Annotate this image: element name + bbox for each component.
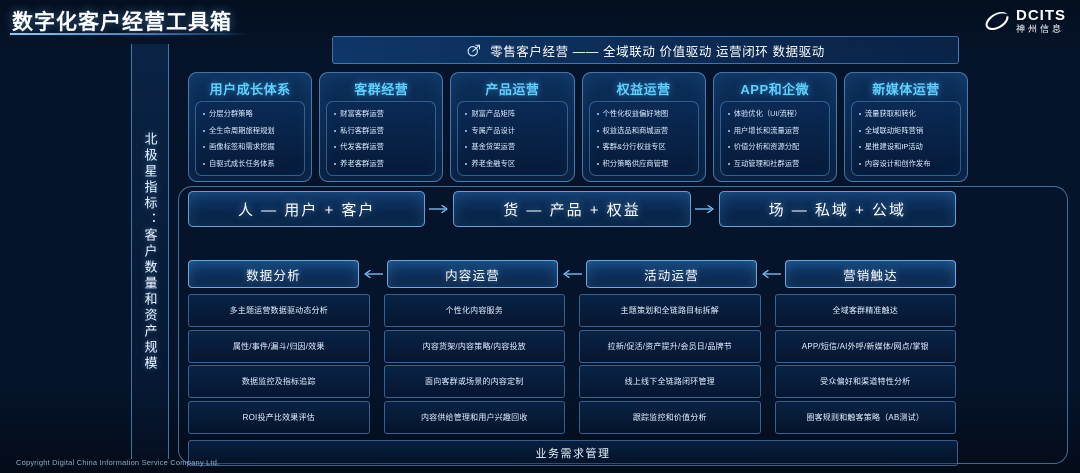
copyright-text: Copyright Digital China Information Serv… [16,458,219,467]
list-item: 养老金融专区 [462,160,563,168]
pillar-row: 人 — 用户 + 客户 货 — 产品 + 权益 场 — 私域 + 公域 [188,192,956,226]
list-item-label: 价值分析和资源分配 [734,143,800,151]
bullet-dot-icon [334,130,336,132]
pillar-people[interactable]: 人 — 用户 + 客户 [188,191,425,227]
list-item-label: 专属产品设计 [471,127,515,135]
list-item-label: 画像标签和需求挖掘 [209,143,275,151]
process-head-data-analysis[interactable]: 数据分析 [188,260,359,288]
dcits-swirl-icon [984,8,1010,34]
list-item-label: 分层分群策略 [209,110,253,118]
list-item-label: 代发客群运营 [340,143,384,151]
list-item[interactable]: 个性化内容服务 [384,294,566,327]
bullet-dot-icon [465,146,467,148]
capability-card-row: 用户成长体系 分层分群策略 全生命周期旅程规划 画像标签和需求挖掘 自驱式成长任… [188,72,968,182]
card-user-growth[interactable]: 用户成长体系 分层分群策略 全生命周期旅程规划 画像标签和需求挖掘 自驱式成长任… [188,72,312,182]
list-item[interactable]: 跟踪监控和价值分析 [579,401,761,434]
list-item: 代发客群运营 [331,143,432,151]
list-item-label: 全生命周期旅程规划 [209,127,275,135]
bullet-dot-icon [597,130,599,132]
arrow-right-icon [425,203,453,215]
list-item: 财富客群运营 [331,110,432,118]
list-item: 全域联动矩阵营销 [856,127,957,135]
list-item: 互动管理和社群运营 [725,160,826,168]
process-head-marketing-reach[interactable]: 营销触达 [785,260,956,288]
list-item: 权益选品和商城运营 [594,127,695,135]
bullet-dot-icon [334,146,336,148]
list-item-label: 个性化权益偏好地图 [603,110,669,118]
list-item[interactable]: 面向客群或场景的内容定制 [384,365,566,398]
bullet-dot-icon [859,113,861,115]
list-item[interactable]: 内容供给管理和用户兴趣回收 [384,401,566,434]
bullet-dot-icon [597,146,599,148]
list-item[interactable]: 拉新/促活/资产提升/会员日/品牌节 [579,330,761,363]
slide-canvas: 数字化客户经营工具箱 DCITS 神州信息 北极星指标：客户数量和资产规模 [0,0,1080,473]
card-title: 用户成长体系 [210,79,291,98]
list-item-label: 养老客群运营 [340,160,384,168]
column-data-analysis: 多主题运营数据驱动态分析 属性/事件/漏斗/归因/效果 数据监控及指标追踪 RO… [188,294,370,434]
process-head-campaign-ops[interactable]: 活动运营 [586,260,757,288]
banner-text: 零售客户经营 —— 全域联动 价值驱动 运营闭环 数据驱动 [490,41,825,60]
list-item-label: 财富产品矩阵 [471,110,515,118]
bullet-dot-icon [859,163,861,165]
bullet-dot-icon [728,113,730,115]
list-item[interactable]: 受众偏好和渠道特性分析 [775,365,957,398]
arrow-left-icon [558,268,586,280]
card-product-operations[interactable]: 产品运营 财富产品矩阵 专属产品设计 基金货架运营 养老金融专区 [450,72,574,182]
list-item: 客群&分行权益专区 [594,143,695,151]
list-item: 流量获取和转化 [856,110,957,118]
list-item: 画像标签和需求挖掘 [200,143,301,151]
card-benefits-operations[interactable]: 权益运营 个性化权益偏好地图 权益选品和商城运营 客群&分行权益专区 积分策略供… [582,72,706,182]
list-item-label: 星推建设和IP活动 [865,143,923,151]
brand-text: DCITS 神州信息 [1016,8,1066,34]
list-item-label: 私行客群运营 [340,127,384,135]
bullet-dot-icon [203,113,205,115]
card-body: 体验优化（UI/流程） 用户增长和流量运营 价值分析和资源分配 互动管理和社群运… [720,101,830,176]
list-item-label: 基金货架运营 [471,143,515,151]
card-body: 流量获取和转化 全域联动矩阵营销 星推建设和IP活动 内容设计和创作发布 [851,101,961,176]
list-item: 用户增长和流量运营 [725,127,826,135]
list-item-label: 流量获取和转化 [865,110,916,118]
card-customer-segments[interactable]: 客群经营 财富客群运营 私行客群运营 代发客群运营 养老客群运营 [319,72,443,182]
column-marketing-reach: 全域客群精准触达 APP/短信/AI外呼/新媒体/网点/掌银 受众偏好和渠道特性… [775,294,957,434]
list-item[interactable]: 主题策划和全链路目标拆解 [579,294,761,327]
target-arrow-icon [466,43,481,58]
list-item-label: 体验优化（UI/流程） [734,110,802,118]
list-item: 体验优化（UI/流程） [725,110,826,118]
bullet-dot-icon [203,163,205,165]
list-item: 养老客群运营 [331,160,432,168]
column-campaign-ops: 主题策划和全链路目标拆解 拉新/促活/资产提升/会员日/品牌节 线上线下全链路闭… [579,294,761,434]
list-item: 内容设计和创作发布 [856,160,957,168]
bullet-dot-icon [465,163,467,165]
card-title: 产品运营 [485,79,539,98]
arrow-right-icon [691,203,719,215]
list-item[interactable]: 数据监控及指标追踪 [188,365,370,398]
card-new-media-operations[interactable]: 新媒体运营 流量获取和转化 全域联动矩阵营销 星推建设和IP活动 内容设计和创作… [844,72,968,182]
bullet-dot-icon [203,130,205,132]
bullet-dot-icon [859,130,861,132]
list-item-label: 客群&分行权益专区 [603,143,666,151]
page-title: 数字化客户经营工具箱 [12,6,232,36]
column-content-ops: 个性化内容服务 内容货架/内容策略/内容投放 面向客群或场景的内容定制 内容供给… [384,294,566,434]
arrow-left-icon [359,268,387,280]
bullet-dot-icon [728,146,730,148]
list-item: 自驱式成长任务体系 [200,160,301,168]
list-item: 星推建设和IP活动 [856,143,957,151]
list-item-label: 财富客群运营 [340,110,384,118]
list-item: 个性化权益偏好地图 [594,110,695,118]
list-item: 积分策略供应商管理 [594,160,695,168]
process-head-content-ops[interactable]: 内容运营 [387,260,558,288]
bullet-dot-icon [597,163,599,165]
bullet-dot-icon [465,113,467,115]
process-head-row: 数据分析 内容运营 活动运营 营销触达 [188,261,956,287]
north-star-rail: 北极星指标：客户数量和资产规模 [131,44,169,459]
list-item-label: 积分策略供应商管理 [603,160,669,168]
list-item: 专属产品设计 [462,127,563,135]
list-item: 价值分析和资源分配 [725,143,826,151]
list-item[interactable]: 线上线下全链路闭环管理 [579,365,761,398]
bullet-dot-icon [203,146,205,148]
brand-logo: DCITS 神州信息 [984,8,1066,34]
list-item: 分层分群策略 [200,110,301,118]
list-item[interactable]: 属性/事件/漏斗/归因/效果 [188,330,370,363]
card-title: 新媒体运营 [872,79,940,98]
bullet-dot-icon [334,113,336,115]
business-demand-bar[interactable]: 业务需求管理 [188,440,958,466]
card-body: 财富客群运营 私行客群运营 代发客群运营 养老客群运营 [326,101,436,176]
title-underline [10,33,250,35]
list-item: 财富产品矩阵 [462,110,563,118]
arrow-left-icon [757,268,785,280]
list-item-label: 养老金融专区 [471,160,515,168]
list-item-label: 自驱式成长任务体系 [209,160,275,168]
list-item-label: 用户增长和流量运营 [734,127,800,135]
bullet-dot-icon [728,130,730,132]
list-item[interactable]: 全域客群精准触达 [775,294,957,327]
list-item-label: 互动管理和社群运营 [734,160,800,168]
bullet-dot-icon [465,130,467,132]
bullet-dot-icon [728,163,730,165]
card-title: 权益运营 [617,79,671,98]
bullet-dot-icon [334,163,336,165]
list-item[interactable]: 圈客规则和触客策略（AB测试） [775,401,957,434]
north-star-label: 北极星指标：客户数量和资产规模 [141,132,160,372]
card-body: 分层分群策略 全生命周期旅程规划 画像标签和需求挖掘 自驱式成长任务体系 [195,101,305,176]
list-item: 私行客群运营 [331,127,432,135]
bullet-dot-icon [597,113,599,115]
list-item-label: 内容设计和创作发布 [865,160,931,168]
card-title: 客群经营 [354,79,408,98]
list-item-label: 权益选品和商城运营 [603,127,669,135]
card-app-and-wecom[interactable]: APP和企微 体验优化（UI/流程） 用户增长和流量运营 价值分析和资源分配 互… [713,72,837,182]
brand-name-en: DCITS [1016,8,1066,23]
list-item[interactable]: 多主题运营数据驱动态分析 [188,294,370,327]
card-title: APP和企微 [740,79,809,98]
list-item[interactable]: APP/短信/AI外呼/新媒体/网点/掌银 [775,330,957,363]
list-item[interactable]: ROI投产比效果评估 [188,401,370,434]
card-body: 财富产品矩阵 专属产品设计 基金货架运营 养老金融专区 [457,101,567,176]
list-item: 全生命周期旅程规划 [200,127,301,135]
card-body: 个性化权益偏好地图 权益选品和商城运营 客群&分行权益专区 积分策略供应商管理 [589,101,699,176]
list-item-label: 全域联动矩阵营销 [865,127,923,135]
bullet-dot-icon [859,146,861,148]
list-item[interactable]: 内容货架/内容策略/内容投放 [384,330,566,363]
brand-name-cn: 神州信息 [1016,25,1066,34]
pillar-place[interactable]: 场 — 私域 + 公域 [719,191,956,227]
list-item: 基金货架运营 [462,143,563,151]
process-detail-grid: 多主题运营数据驱动态分析 属性/事件/漏斗/归因/效果 数据监控及指标追踪 RO… [188,294,956,434]
pillar-goods[interactable]: 货 — 产品 + 权益 [453,191,690,227]
strategy-banner: 零售客户经营 —— 全域联动 价值驱动 运营闭环 数据驱动 [332,36,959,64]
